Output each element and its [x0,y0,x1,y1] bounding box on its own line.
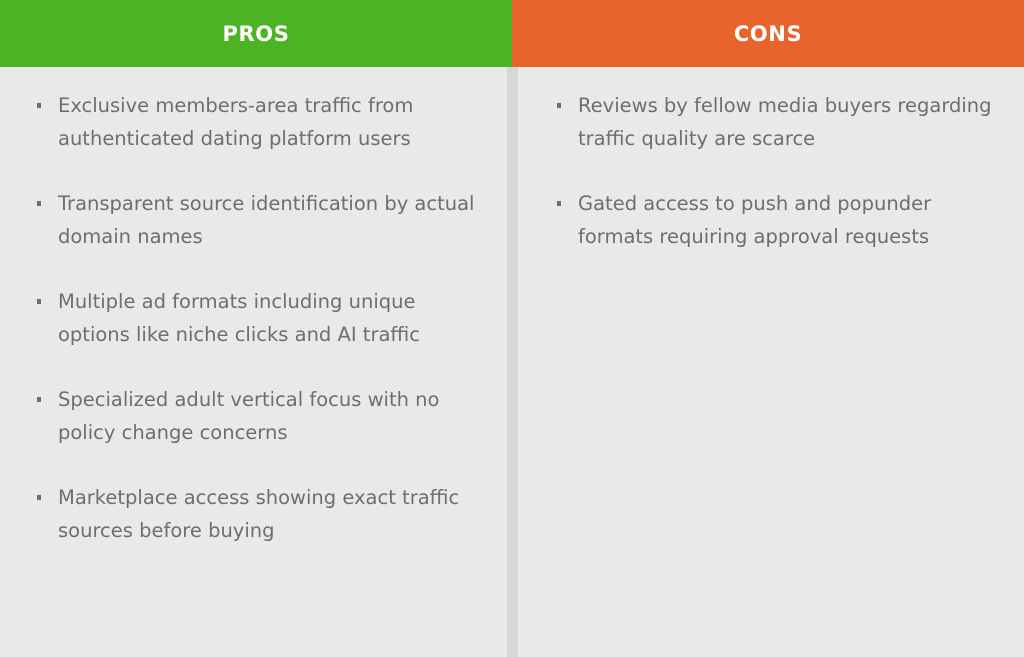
square-bullet-icon [557,103,561,108]
square-bullet-icon [37,201,41,206]
list-item-text: Specialized adult vertical focus with no… [58,383,488,449]
square-bullet-icon [557,201,561,206]
list-item: Exclusive members-area traffic from auth… [36,89,488,155]
list-item-text: Marketplace access showing exact traffic… [58,481,488,547]
table-body-row: Exclusive members-area traffic from auth… [0,67,1024,657]
list-item-text: Exclusive members-area traffic from auth… [58,89,488,155]
list-item: Reviews by fellow media buyers regarding… [556,89,1000,155]
list-item-text: Multiple ad formats including unique opt… [58,285,488,351]
square-bullet-icon [37,103,41,108]
pros-column-header: PROS [0,0,512,67]
list-item: Marketplace access showing exact traffic… [36,481,488,547]
pros-list: Exclusive members-area traffic from auth… [36,89,488,547]
list-item: Gated access to push and popunder format… [556,187,1000,253]
list-item: Transparent source identification by act… [36,187,488,253]
table-header-row: PROS CONS [0,0,1024,67]
square-bullet-icon [37,495,41,500]
pros-column: Exclusive members-area traffic from auth… [0,67,512,657]
list-item-text: Gated access to push and popunder format… [578,187,1000,253]
column-divider [507,67,518,657]
pros-header-label: PROS [223,22,290,46]
square-bullet-icon [37,397,41,402]
list-item-text: Transparent source identification by act… [58,187,488,253]
square-bullet-icon [37,299,41,304]
pros-cons-table: PROS CONS Exclusive members-area traffic… [0,0,1024,657]
cons-list: Reviews by fellow media buyers regarding… [556,89,1000,253]
list-item: Multiple ad formats including unique opt… [36,285,488,351]
cons-column: Reviews by fellow media buyers regarding… [512,67,1024,657]
list-item: Specialized adult vertical focus with no… [36,383,488,449]
cons-column-header: CONS [512,0,1024,67]
list-item-text: Reviews by fellow media buyers regarding… [578,89,1000,155]
cons-header-label: CONS [734,22,802,46]
